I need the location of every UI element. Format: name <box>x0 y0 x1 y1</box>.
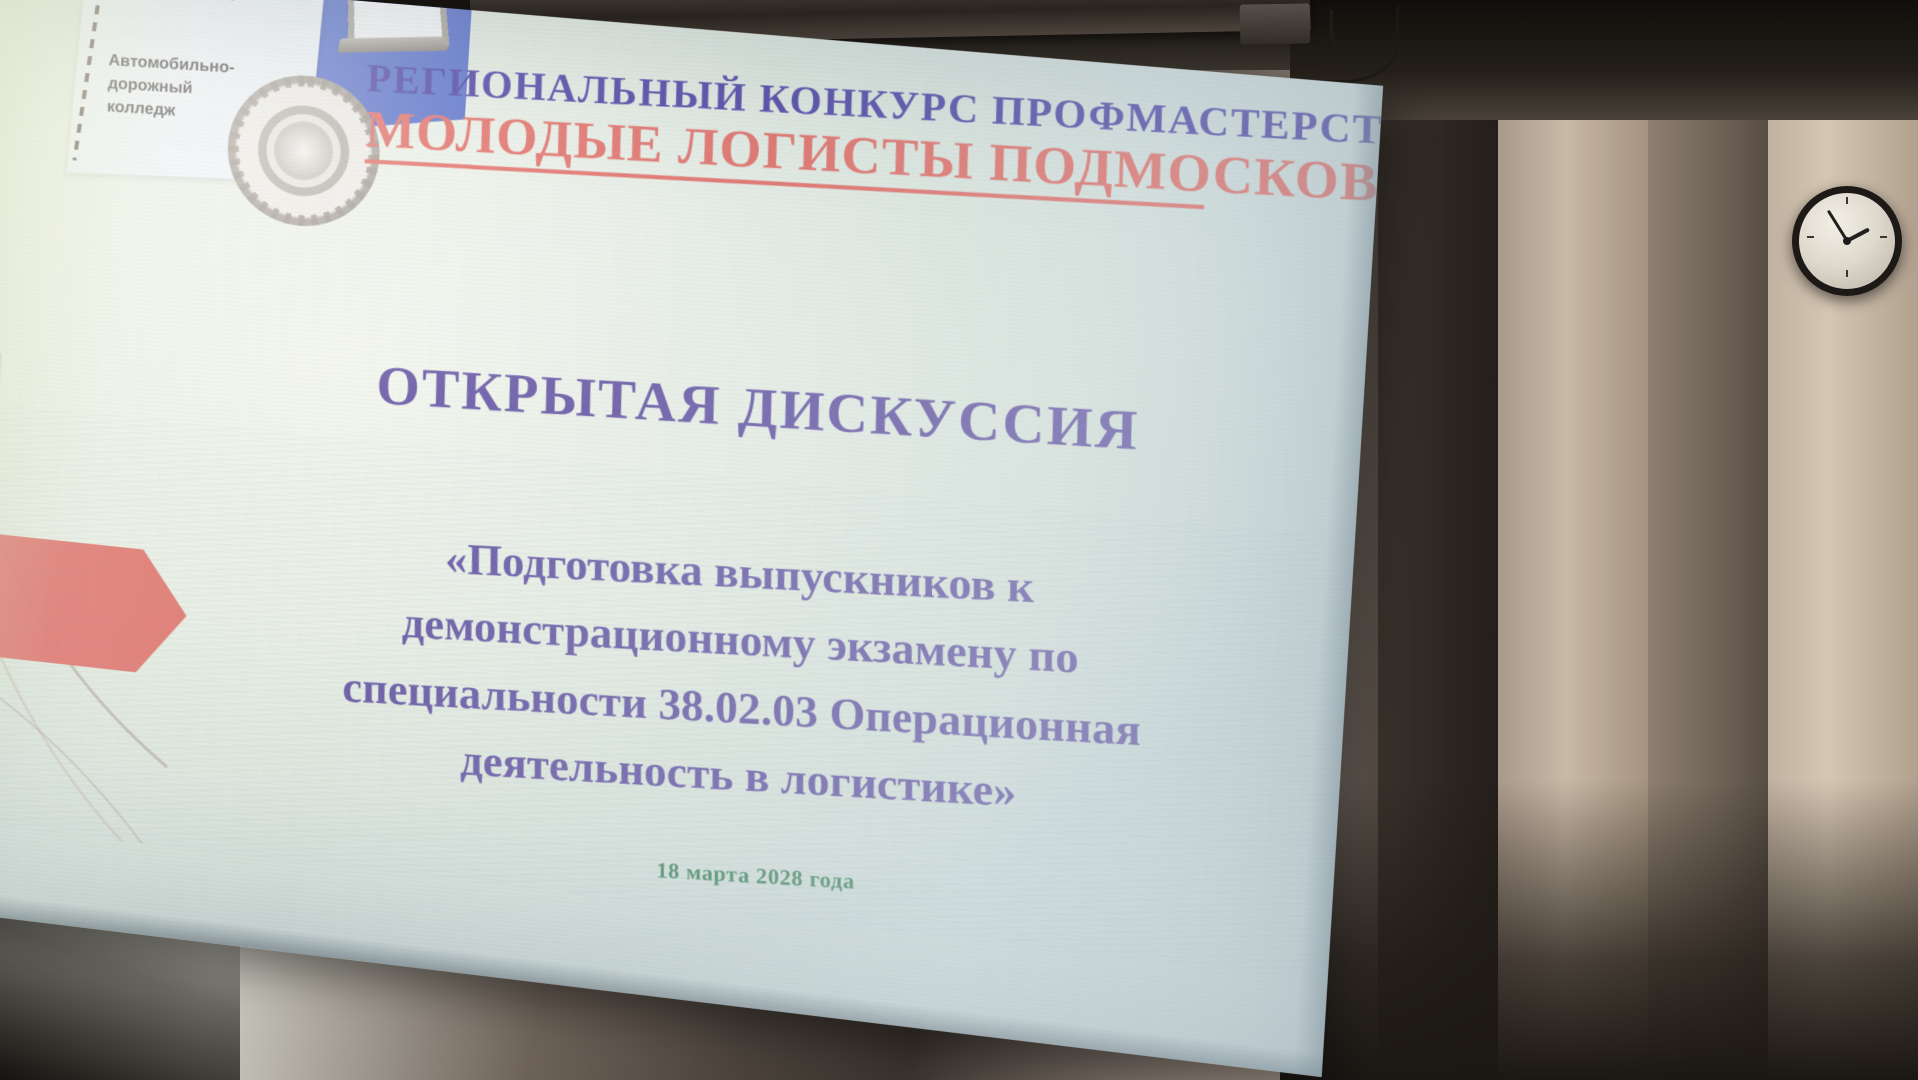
photo-canvas: ГБПОУ МО Автомобильно- дорожный колледж … <box>0 0 1918 1080</box>
slide-title: ОТКРЫТАЯ ДИСКУССИЯ <box>355 352 1163 464</box>
slide-surface: ГБПОУ МО Автомобильно- дорожный колледж … <box>0 0 1383 1077</box>
decorative-ribbon <box>0 524 190 678</box>
slide-header: РЕГИОНАЛЬНЫЙ КОНКУРС ПРОФМАСТЕРСТВА МОЛО… <box>365 58 1207 209</box>
shadow-right <box>1280 780 1918 1080</box>
slide-body: «Подготовка выпускников к демонстрационн… <box>256 517 1233 840</box>
projection-screen: ГБПОУ МО Автомобильно- дорожный колледж … <box>0 0 1383 1077</box>
wall-clock-icon <box>1792 186 1902 296</box>
laptop-icon <box>337 0 447 66</box>
slide-date: 18 марта 2028 года <box>461 846 1056 906</box>
